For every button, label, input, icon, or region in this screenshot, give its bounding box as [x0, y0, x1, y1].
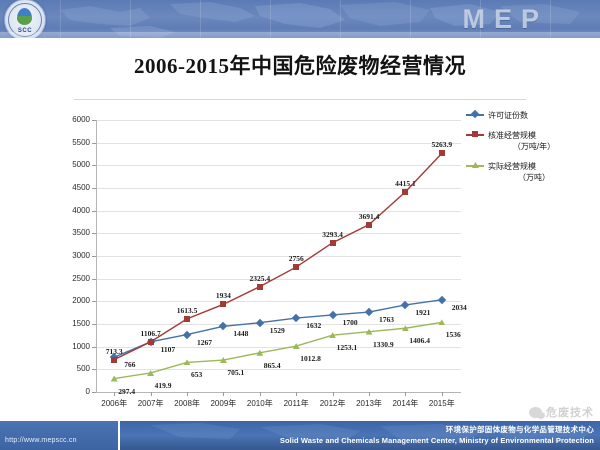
data-label: 865.4 [264, 361, 281, 370]
legend-sublabel: （万吨） [488, 172, 594, 183]
x-axis-tick-mark [223, 392, 224, 396]
legend-item-0[interactable]: 许可证份数 [466, 110, 594, 121]
data-label: 713.3 [96, 347, 132, 356]
data-label: 1330.9 [373, 340, 394, 349]
data-label: 1536 [446, 330, 461, 339]
y-axis-tick-label: 6000 [46, 115, 90, 124]
footer-left-block [0, 421, 120, 450]
data-label: 1448 [233, 329, 248, 338]
footer-url: http://www.mepscc.cn [5, 437, 77, 444]
y-axis-tick-label: 2500 [46, 274, 90, 283]
x-axis-tick-mark [151, 392, 152, 396]
legend-item-2[interactable]: 实际经营规模（万吨） [466, 161, 594, 183]
y-axis-tick-label: 0 [46, 387, 90, 396]
x-axis-tick-mark [442, 392, 443, 396]
data-point [293, 264, 299, 270]
y-axis-tick-label: 5500 [46, 138, 90, 147]
x-axis-tick-label: 2015年 [424, 398, 460, 409]
data-point [439, 150, 445, 156]
y-axis-tick-mark [92, 392, 96, 393]
y-axis-tick-label: 3000 [46, 251, 90, 260]
y-axis-tick-label: 2000 [46, 296, 90, 305]
legend-item-1[interactable]: 核准经营规模（万吨/年） [466, 130, 594, 152]
legend-label: 许可证份数 [488, 110, 594, 121]
data-label: 3293.4 [315, 230, 351, 239]
legend-marker-icon [472, 131, 478, 137]
mep-wordmark: MEP [462, 4, 548, 35]
x-axis-tick-label: 2009年 [205, 398, 241, 409]
title-divider [74, 99, 526, 100]
data-point [402, 189, 408, 195]
data-label: 1107 [161, 345, 176, 354]
data-label: 653 [191, 370, 202, 379]
legend-sublabel: （万吨/年） [488, 141, 594, 152]
data-label: 4415.1 [387, 179, 423, 188]
data-point [257, 284, 263, 290]
x-axis-tick-mark [405, 392, 406, 396]
legend-marker-icon [471, 110, 479, 118]
x-axis-tick-label: 2013年 [351, 398, 387, 409]
legend-label: 实际经营规模 [488, 161, 594, 172]
title-area: 2006-2015年中国危险废物经营情况 [0, 44, 600, 100]
data-label: 705.1 [227, 368, 244, 377]
data-label: 1613.5 [169, 306, 205, 315]
slide-footer: http://www.mepscc.cn 环境保护部固体废物与化学品管理技术中心… [0, 421, 600, 450]
x-axis-tick-mark [187, 392, 188, 396]
data-label: 1106.7 [133, 329, 169, 338]
data-label: 297.4 [118, 387, 135, 396]
x-axis-tick-label: 2011年 [278, 398, 314, 409]
data-label: 1267 [197, 338, 212, 347]
data-label: 2325.4 [242, 274, 278, 283]
x-axis-tick-label: 2012年 [315, 398, 351, 409]
x-axis-tick-mark [369, 392, 370, 396]
data-point [366, 222, 372, 228]
watermark: 危废技术 [529, 404, 594, 420]
data-label: 1632 [306, 321, 321, 330]
data-label: 2756 [278, 254, 314, 263]
x-axis-tick-label: 2010年 [242, 398, 278, 409]
footer-org-cn: 环境保护部固体废物与化学品管理技术中心 [446, 424, 594, 435]
data-label: 1763 [379, 315, 394, 324]
data-label: 419.9 [155, 381, 172, 390]
x-axis-tick-label: 2006年 [96, 398, 132, 409]
data-label: 1700 [343, 318, 358, 327]
y-axis-tick-label: 4500 [46, 183, 90, 192]
data-label: 3691.4 [351, 212, 387, 221]
data-label: 2034 [452, 303, 467, 312]
y-axis-tick-label: 3500 [46, 228, 90, 237]
y-axis-tick-label: 500 [46, 364, 90, 373]
y-axis-tick-label: 5000 [46, 160, 90, 169]
x-axis-tick-mark [333, 392, 334, 396]
data-point [330, 240, 336, 246]
data-point [148, 339, 154, 345]
chart-legend: 许可证份数核准经营规模（万吨/年）实际经营规模（万吨） [466, 110, 594, 192]
data-label: 1253.1 [337, 343, 358, 352]
y-axis-tick-label: 1000 [46, 342, 90, 351]
x-axis-tick-label: 2008年 [169, 398, 205, 409]
page-title: 2006-2015年中国危险废物经营情况 [0, 50, 600, 80]
x-axis-tick-label: 2007年 [133, 398, 169, 409]
data-label: 1934 [205, 291, 241, 300]
footer-org-en: Solid Waste and Chemicals Management Cen… [280, 436, 594, 445]
x-axis-tick-mark [260, 392, 261, 396]
slide-header-banner: MEP SCC [0, 0, 600, 38]
x-axis-tick-mark [296, 392, 297, 396]
data-label: 1406.4 [409, 336, 430, 345]
data-point [111, 357, 117, 363]
data-label: 5263.9 [424, 140, 460, 149]
legend-label: 核准经营规模 [488, 130, 594, 141]
y-axis-tick-label: 4000 [46, 206, 90, 215]
data-label: 766 [124, 360, 135, 369]
y-axis-tick-label: 1500 [46, 319, 90, 328]
data-label: 1921 [415, 308, 430, 317]
x-axis-tick-label: 2014年 [387, 398, 423, 409]
wechat-icon [529, 407, 542, 418]
data-label: 1012.8 [300, 354, 321, 363]
data-point [220, 301, 226, 307]
data-point [184, 316, 190, 322]
x-axis-tick-mark [114, 392, 115, 396]
data-label: 1529 [270, 326, 285, 335]
watermark-label: 危废技术 [546, 404, 594, 420]
